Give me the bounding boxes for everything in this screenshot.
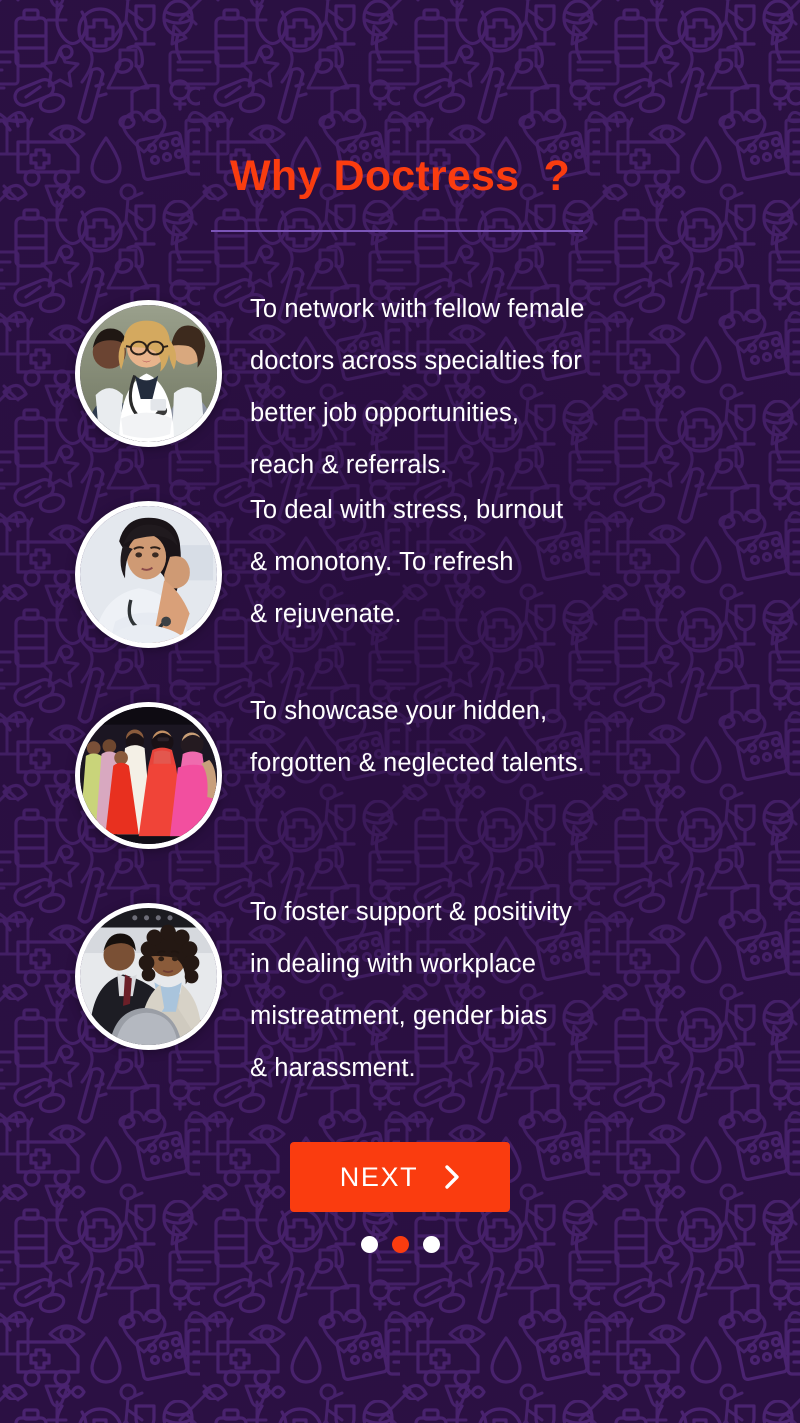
list-item: To foster support & positivity in dealin… (0, 886, 800, 1094)
header: Why Doctress ? (0, 155, 800, 198)
chevron-right-icon (444, 1164, 460, 1190)
avatar (75, 702, 222, 849)
list-item: To deal with stress, burnout & monotony.… (0, 484, 800, 648)
next-button[interactable]: NEXT (290, 1142, 510, 1212)
cta-container: NEXT (0, 1142, 800, 1212)
three-female-doctors-photo (75, 300, 222, 447)
avatar (75, 501, 222, 648)
onboarding-screen: Why Doctress ? (0, 0, 800, 1423)
fashion-ramp-walk-photo (75, 702, 222, 849)
stressed-doctor-photo (75, 501, 222, 648)
avatar (75, 903, 222, 1050)
pagination-dots (0, 1236, 800, 1253)
pagination-dot-2[interactable] (392, 1236, 409, 1253)
list-item-label: To network with fellow female doctors ac… (250, 283, 800, 491)
page-title: Why Doctress ? (0, 155, 800, 198)
avatar (75, 300, 222, 447)
list-item: To showcase your hidden, forgotten & neg… (0, 685, 800, 849)
workplace-harassment-photo (75, 903, 222, 1050)
next-button-label: NEXT (340, 1162, 418, 1193)
list-item: To network with fellow female doctors ac… (0, 283, 800, 491)
title-underline (211, 230, 583, 232)
pagination-dot-3[interactable] (423, 1236, 440, 1253)
list-item-label: To deal with stress, burnout & monotony.… (250, 484, 800, 640)
list-item-label: To showcase your hidden, forgotten & neg… (250, 685, 800, 789)
list-item-label: To foster support & positivity in dealin… (250, 886, 800, 1094)
pagination-dot-1[interactable] (361, 1236, 378, 1253)
